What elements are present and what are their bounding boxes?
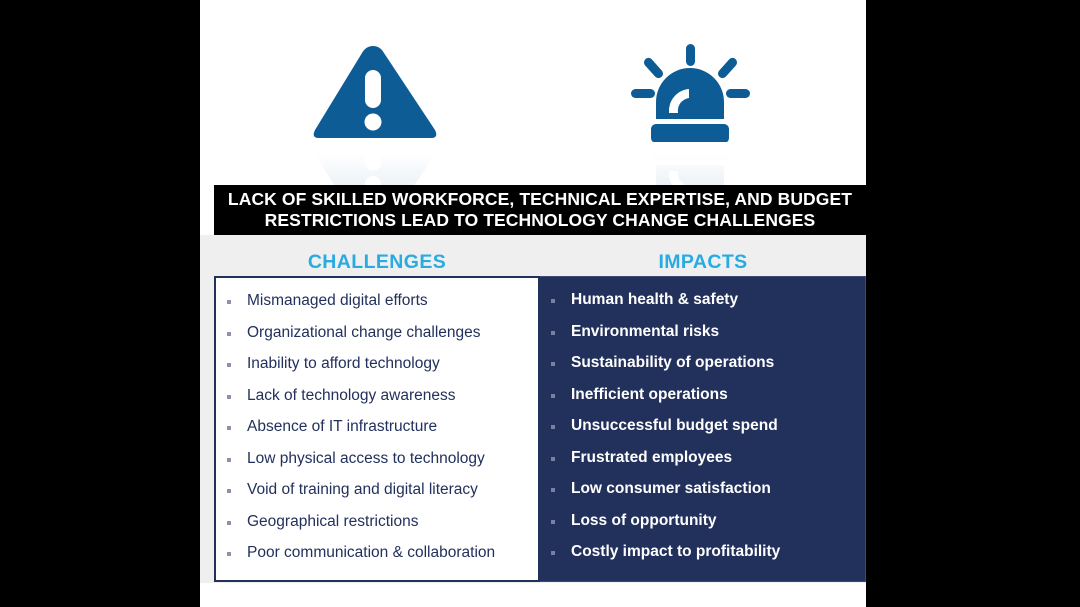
list-item-label: Environmental risks xyxy=(571,322,719,341)
impacts-panel: Human health & safetyEnvironmental risks… xyxy=(540,276,866,582)
bullet-marker-icon xyxy=(551,331,555,335)
list-item: Environmental risks xyxy=(540,322,865,354)
impacts-column-heading: IMPACTS xyxy=(540,251,866,274)
list-item: Poor communication & collaboration xyxy=(216,543,538,575)
bullet-marker-icon xyxy=(227,395,231,399)
slide-title: LACK OF SKILLED WORKFORCE, TECHNICAL EXP… xyxy=(214,189,866,232)
bullet-marker-icon xyxy=(551,488,555,492)
list-item: Sustainability of operations xyxy=(540,353,865,385)
list-item: Organizational change challenges xyxy=(216,323,538,355)
warning-triangle-icon xyxy=(308,42,438,182)
bullet-marker-icon xyxy=(551,299,555,303)
list-item-label: Absence of IT infrastructure xyxy=(247,417,437,436)
list-item-label: Poor communication & collaboration xyxy=(247,543,495,562)
list-item: Inability to afford technology xyxy=(216,354,538,386)
list-item: Geographical restrictions xyxy=(216,512,538,544)
list-item-label: Lack of technology awareness xyxy=(247,386,456,405)
list-item: Unsuccessful budget spend xyxy=(540,416,865,448)
icon-band xyxy=(200,0,866,185)
challenges-column-heading: CHALLENGES xyxy=(214,251,540,274)
list-item-label: Low consumer satisfaction xyxy=(571,479,771,498)
bullet-marker-icon xyxy=(227,363,231,367)
list-item: Human health & safety xyxy=(540,290,865,322)
bullet-marker-icon xyxy=(551,520,555,524)
list-item: Frustrated employees xyxy=(540,448,865,480)
bullet-marker-icon xyxy=(227,300,231,304)
list-item-label: Void of training and digital literacy xyxy=(247,480,478,499)
list-item: Low physical access to technology xyxy=(216,449,538,481)
bullet-marker-icon xyxy=(551,551,555,555)
list-item-label: Human health & safety xyxy=(571,290,738,309)
list-item: Lack of technology awareness xyxy=(216,386,538,418)
list-item: Mismanaged digital efforts xyxy=(216,291,538,323)
alarm-siren-icon xyxy=(625,42,755,182)
bullet-marker-icon xyxy=(227,489,231,493)
bullet-marker-icon xyxy=(551,457,555,461)
list-item-label: Loss of opportunity xyxy=(571,511,717,530)
list-item: Loss of opportunity xyxy=(540,511,865,543)
list-item: Costly impact to profitability xyxy=(540,542,865,574)
list-item-label: Inefficient operations xyxy=(571,385,728,404)
bullet-marker-icon xyxy=(227,458,231,462)
slide-title-banner: LACK OF SKILLED WORKFORCE, TECHNICAL EXP… xyxy=(214,185,866,235)
bullet-marker-icon xyxy=(551,394,555,398)
bullet-marker-icon xyxy=(227,426,231,430)
list-item: Absence of IT infrastructure xyxy=(216,417,538,449)
list-item: Low consumer satisfaction xyxy=(540,479,865,511)
challenges-panel: Mismanaged digital effortsOrganizational… xyxy=(214,276,540,582)
bullet-marker-icon xyxy=(227,332,231,336)
list-item-label: Mismanaged digital efforts xyxy=(247,291,428,310)
impacts-list: Human health & safetyEnvironmental risks… xyxy=(540,277,865,574)
list-item-label: Low physical access to technology xyxy=(247,449,485,468)
bullet-marker-icon xyxy=(551,362,555,366)
list-item: Void of training and digital literacy xyxy=(216,480,538,512)
list-item-label: Organizational change challenges xyxy=(247,323,481,342)
bullet-marker-icon xyxy=(551,425,555,429)
list-item-label: Sustainability of operations xyxy=(571,353,774,372)
list-item: Inefficient operations xyxy=(540,385,865,417)
list-item-label: Inability to afford technology xyxy=(247,354,440,373)
list-item-label: Frustrated employees xyxy=(571,448,732,467)
bullet-marker-icon xyxy=(227,521,231,525)
content-area: CHALLENGES IMPACTS Mismanaged digital ef… xyxy=(200,235,866,583)
challenges-list: Mismanaged digital effortsOrganizational… xyxy=(216,278,538,575)
presentation-slide: LACK OF SKILLED WORKFORCE, TECHNICAL EXP… xyxy=(200,0,866,607)
list-item-label: Geographical restrictions xyxy=(247,512,418,531)
list-item-label: Costly impact to profitability xyxy=(571,542,780,561)
slide-bottom-strip xyxy=(200,583,866,607)
list-item-label: Unsuccessful budget spend xyxy=(571,416,778,435)
bullet-marker-icon xyxy=(227,552,231,556)
